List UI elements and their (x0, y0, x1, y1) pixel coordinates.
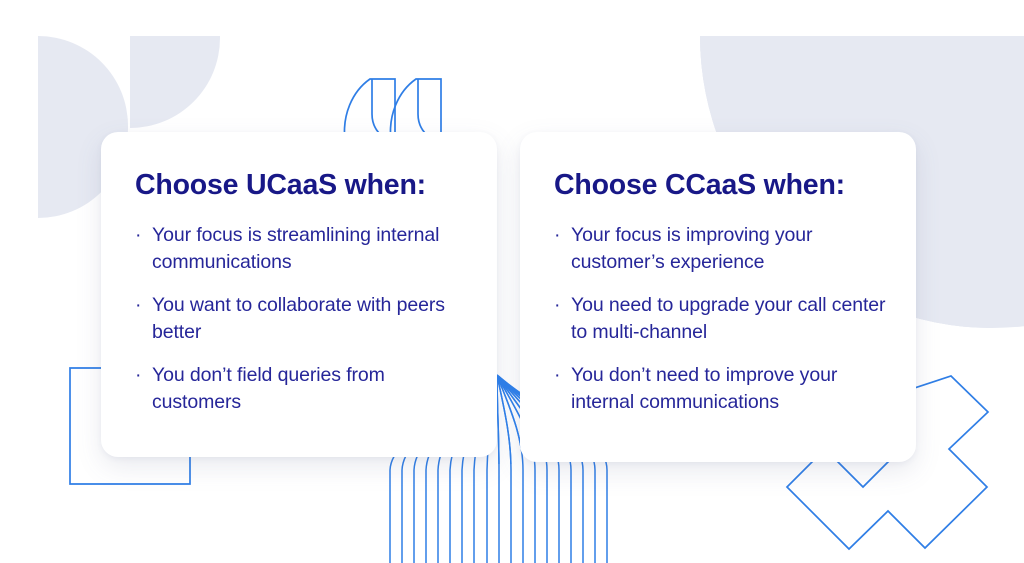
card-ccaas-bullet-list: · Your focus is improving your customer’… (554, 222, 886, 415)
list-item-text: You want to collaborate with peers bette… (152, 294, 445, 343)
bullet-dot-icon: · (135, 222, 141, 249)
card-ccaas: Choose CCaaS when: · Your focus is impro… (520, 132, 916, 462)
card-ucaas-title: Choose UCaaS when: (135, 170, 467, 201)
list-item: · Your focus is streamlining internal co… (135, 222, 467, 275)
card-ccaas-title: Choose CCaaS when: (554, 170, 886, 201)
list-item-text: You need to upgrade your call center to … (571, 294, 885, 343)
slide-canvas: Choose UCaaS when: · Your focus is strea… (0, 0, 1024, 563)
list-item: · You want to collaborate with peers bet… (135, 292, 467, 345)
list-item-text: Your focus is improving your customer’s … (571, 224, 812, 273)
list-item: · You don’t field queries from customers (135, 362, 467, 415)
comparison-cards: Choose UCaaS when: · Your focus is strea… (0, 0, 1024, 563)
bullet-dot-icon: · (135, 362, 141, 389)
bullet-dot-icon: · (554, 362, 560, 389)
card-ucaas: Choose UCaaS when: · Your focus is strea… (101, 132, 497, 457)
bullet-dot-icon: · (554, 292, 560, 319)
list-item: · You don’t need to improve your interna… (554, 362, 886, 415)
list-item-text: You don’t need to improve your internal … (571, 364, 837, 413)
card-ucaas-bullet-list: · Your focus is streamlining internal co… (135, 222, 467, 415)
list-item-text: You don’t field queries from customers (152, 364, 385, 413)
list-item: · Your focus is improving your customer’… (554, 222, 886, 275)
list-item: · You need to upgrade your call center t… (554, 292, 886, 345)
bullet-dot-icon: · (554, 222, 560, 249)
list-item-text: Your focus is streamlining internal comm… (152, 224, 439, 273)
bullet-dot-icon: · (135, 292, 141, 319)
